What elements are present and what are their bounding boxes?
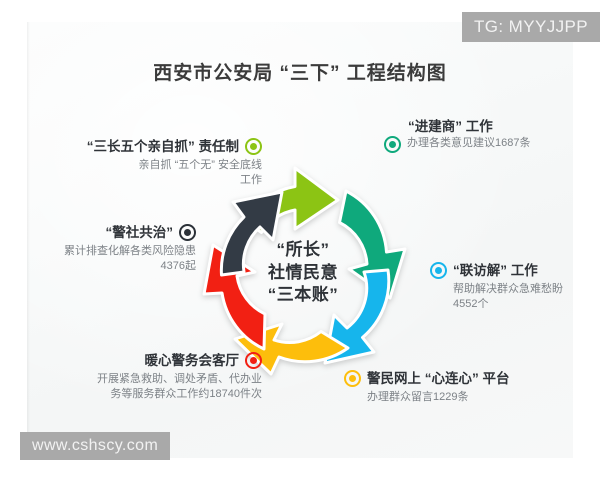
callout-blue-sub-1: 帮助解决群众急难愁盼: [453, 282, 598, 298]
callout-green[interactable]: “三长五个亲自抓” 责任制 亲自抓 “五个无” 安全底线 工作: [10, 138, 262, 189]
dark-ring-dot: [179, 224, 196, 241]
callout-red-sub-2: 务等服务群众工作约18740件次: [10, 387, 262, 403]
callout-green-heading: “三长五个亲自抓” 责任制: [87, 138, 239, 156]
callout-dark[interactable]: “警社共治” 累计排查化解各类风险隐患 4376起: [10, 224, 196, 275]
callout-teal-heading: “进建商” 工作: [408, 118, 596, 136]
red-ring-dot: [245, 352, 262, 369]
callout-teal-sub-1: 办理各类意见建议1687条: [407, 136, 530, 152]
callout-green-sub-2: 工作: [10, 173, 262, 189]
green-ring-dot: [245, 138, 262, 155]
infographic-canvas: TG: MYYJJPP 西安市公安局 “三下” 工程结构图 “所长” 社情民意: [0, 0, 600, 480]
blue-ring-dot: [430, 262, 447, 279]
callout-dark-heading: “警社共治”: [106, 224, 174, 242]
amber-ring-dot: [344, 370, 361, 387]
callout-red[interactable]: 暖心警务会客厅 开展紧急救助、调处矛盾、代办业 务等服务群众工作约18740件次: [10, 352, 262, 403]
callout-green-sub-1: 亲自抓 “五个无” 安全底线: [10, 158, 262, 174]
callout-blue[interactable]: “联访解” 工作 帮助解决群众急难愁盼 4552个: [430, 262, 598, 313]
callout-dark-sub-1: 累计排查化解各类风险隐患: [10, 244, 196, 260]
arrow-segment-dark: [221, 192, 282, 275]
callout-amber[interactable]: 警民网上 “心连心” 平台 办理群众留言1229条: [344, 370, 596, 405]
teal-ring-dot: [384, 136, 401, 153]
callout-amber-sub-1: 办理群众留言1229条: [367, 390, 596, 406]
page-title: 西安市公安局 “三下” 工程结构图: [0, 58, 600, 85]
callout-blue-heading: “联访解” 工作: [453, 262, 538, 280]
watermark-top-right: TG: MYYJJPP: [462, 12, 600, 42]
callout-amber-heading: 警民网上 “心连心” 平台: [367, 370, 510, 388]
callout-dark-sub-2: 4376起: [10, 259, 196, 275]
watermark-bottom-left: www.cshscy.com: [20, 432, 170, 460]
callout-teal[interactable]: “进建商” 工作 办理各类意见建议1687条: [384, 118, 596, 153]
callout-blue-sub-2: 4552个: [453, 297, 598, 313]
callout-red-heading: 暖心警务会客厅: [145, 352, 240, 370]
callout-red-sub-1: 开展紧急救助、调处矛盾、代办业: [10, 372, 262, 388]
